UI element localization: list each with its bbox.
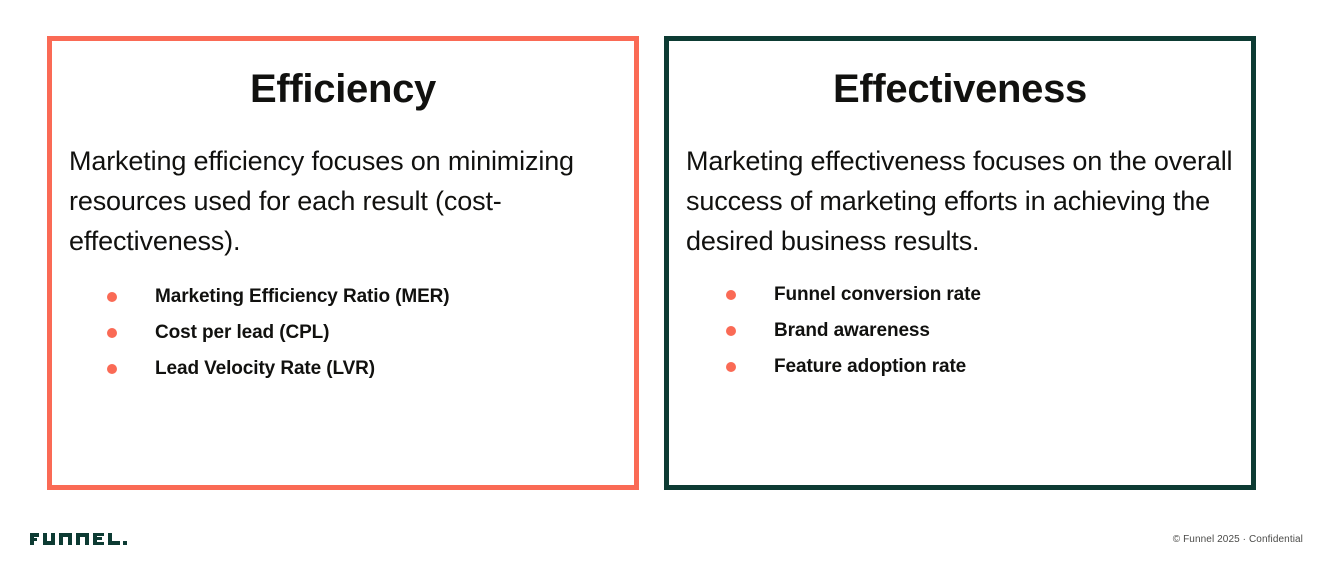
slide-footer: © Funnel 2025 · Confidential (0, 517, 1327, 579)
list-item: Marketing Efficiency Ratio (MER) (107, 279, 617, 315)
bullet-dot-icon (726, 290, 736, 300)
card-effectiveness-content: Effectiveness Marketing effectiveness fo… (669, 41, 1251, 485)
funnel-wordmark-logo (30, 529, 142, 549)
list-item: Lead Velocity Rate (LVR) (107, 351, 617, 387)
bullet-dot-icon (726, 362, 736, 372)
card-efficiency-description: Marketing efficiency focuses on minimizi… (69, 111, 617, 261)
list-item-label: Marketing Efficiency Ratio (MER) (155, 279, 617, 315)
list-item-label: Lead Velocity Rate (LVR) (155, 351, 617, 387)
card-effectiveness-metric-list: Funnel conversion rate Brand awareness F… (686, 261, 1234, 385)
card-effectiveness: Effectiveness Marketing effectiveness fo… (664, 36, 1256, 490)
list-item: Brand awareness (726, 313, 1234, 349)
list-item: Funnel conversion rate (726, 277, 1234, 313)
card-efficiency-title: Efficiency (69, 41, 617, 111)
card-efficiency-metric-list: Marketing Efficiency Ratio (MER) Cost pe… (69, 261, 617, 387)
list-item-label: Cost per lead (CPL) (155, 315, 617, 351)
list-item: Cost per lead (CPL) (107, 315, 617, 351)
bullet-dot-icon (726, 326, 736, 336)
slide-canvas: Efficiency Marketing efficiency focuses … (0, 0, 1327, 579)
card-effectiveness-title: Effectiveness (686, 41, 1234, 111)
confidential-notice: © Funnel 2025 · Confidential (1173, 533, 1303, 546)
bullet-dot-icon (107, 292, 117, 302)
list-item: Feature adoption rate (726, 349, 1234, 385)
card-efficiency-content: Efficiency Marketing efficiency focuses … (52, 41, 634, 485)
bullet-dot-icon (107, 328, 117, 338)
list-item-label: Feature adoption rate (774, 349, 1234, 385)
list-item-label: Brand awareness (774, 313, 1234, 349)
card-efficiency: Efficiency Marketing efficiency focuses … (47, 36, 639, 490)
card-effectiveness-description: Marketing effectiveness focuses on the o… (686, 111, 1234, 261)
bullet-dot-icon (107, 364, 117, 374)
list-item-label: Funnel conversion rate (774, 277, 1234, 313)
